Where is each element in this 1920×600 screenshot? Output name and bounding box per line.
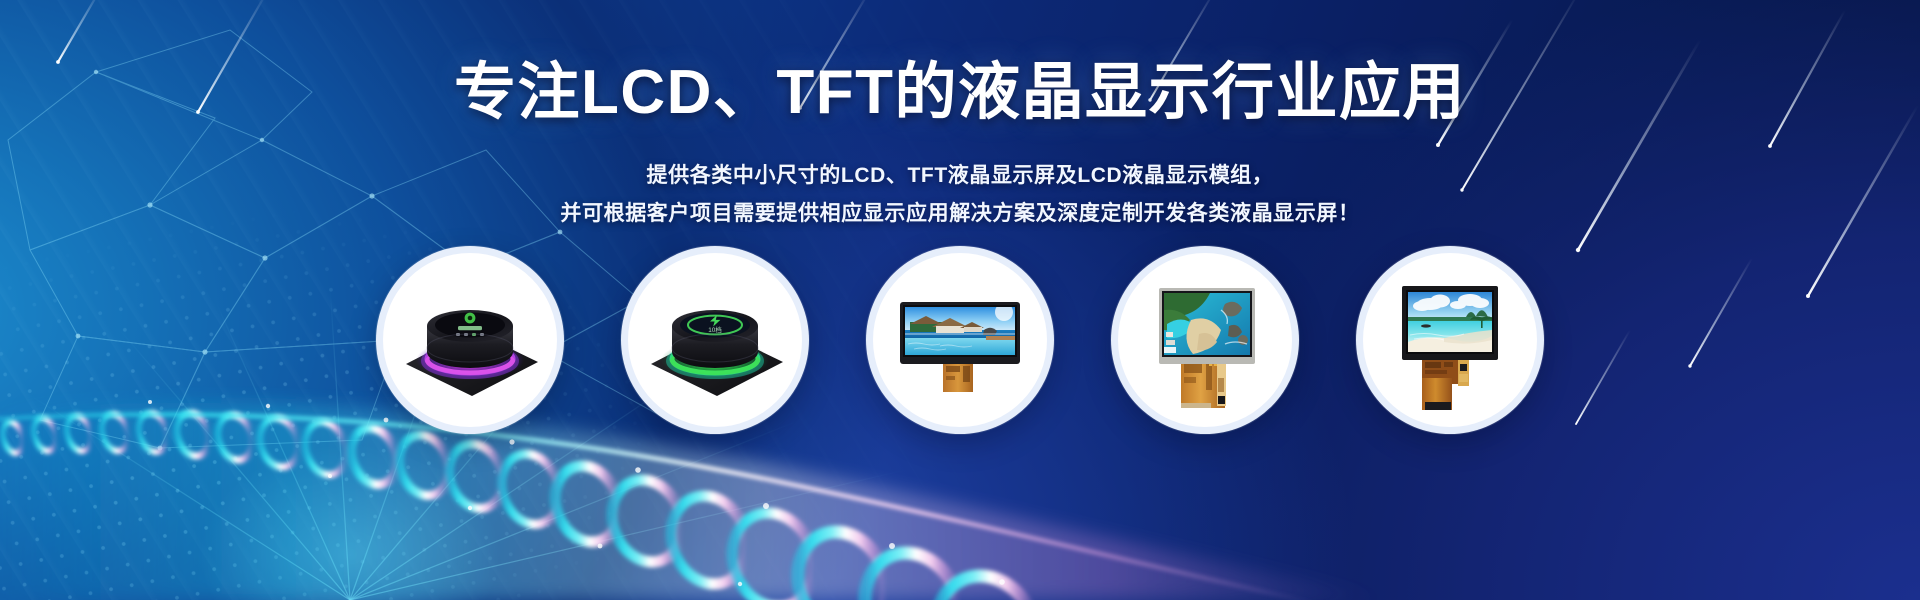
product-circle-row: 10档	[376, 246, 1544, 434]
tft-lcd-widescreen-pool-icon	[880, 260, 1040, 420]
product-circle-4[interactable]	[1111, 246, 1299, 434]
tft-lcd-module-lagoon-icon	[1370, 260, 1530, 420]
device-screen-label: 10档	[708, 325, 722, 334]
subtitle-line-2: 并可根据客户项目需要提供相应显示应用解决方案及深度定制开发各类液晶显示屏！	[0, 195, 1920, 232]
product-circle-1[interactable]	[376, 246, 564, 434]
hero-banner: 专注LCD、TFT的液晶显示行业应用 提供各类中小尺寸的LCD、TFT液晶显示屏…	[0, 0, 1920, 600]
product-circle-5[interactable]	[1356, 246, 1544, 434]
smart-round-device-green-icon: 10档	[635, 260, 795, 420]
banner-copy: 专注LCD、TFT的液晶显示行业应用 提供各类中小尺寸的LCD、TFT液晶显示屏…	[0, 58, 1920, 232]
smart-round-device-purple-icon	[390, 260, 550, 420]
page-title: 专注LCD、TFT的液晶显示行业应用	[0, 58, 1920, 127]
tft-lcd-module-coast-icon	[1125, 260, 1285, 420]
product-circle-3[interactable]	[866, 246, 1054, 434]
product-circle-2[interactable]: 10档	[621, 246, 809, 434]
subtitle-line-1: 提供各类中小尺寸的LCD、TFT液晶显示屏及LCD液晶显示模组，	[0, 157, 1920, 194]
